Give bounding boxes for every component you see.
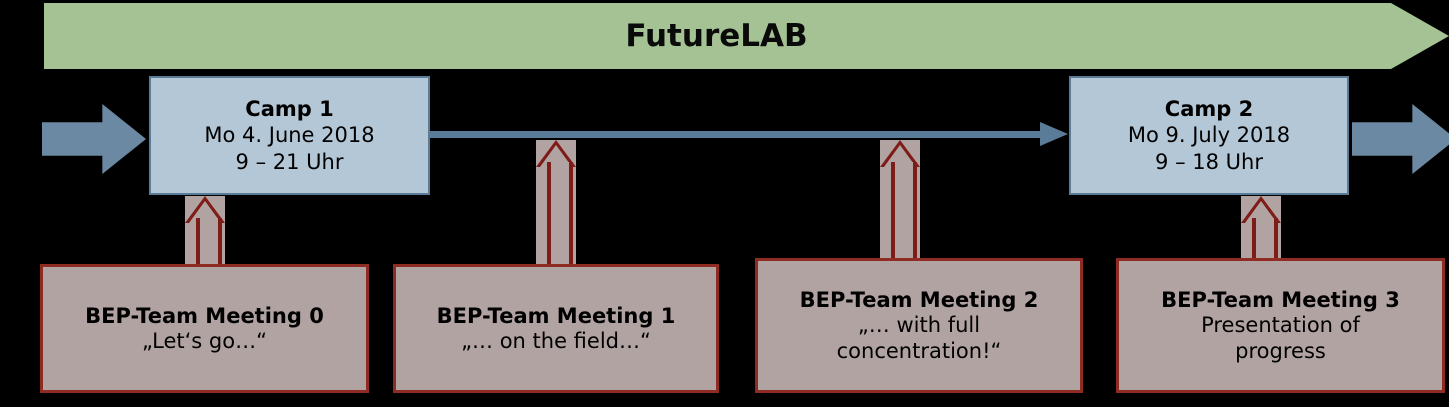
- meeting-1-box[interactable]: BEP-Team Meeting 1 „… on the field…“: [393, 264, 719, 393]
- left-block-arrow-icon: [42, 104, 146, 174]
- meeting-2-title: BEP-Team Meeting 2: [800, 287, 1039, 313]
- camp-2-date: Mo 9. July 2018: [1128, 122, 1290, 149]
- camp-2-time: 9 – 18 Uhr: [1155, 149, 1263, 176]
- up-arrow-meeting-0-icon: [185, 196, 225, 266]
- up-arrow-meeting-3-icon: [1241, 196, 1281, 260]
- meeting-2-subtitle-line1: „… with full: [858, 313, 980, 339]
- camp-connector-line: [430, 131, 1055, 138]
- camp-connector-arrowhead-icon: [1040, 122, 1068, 146]
- meeting-2-box[interactable]: BEP-Team Meeting 2 „… with full concentr…: [755, 258, 1083, 393]
- meeting-1-subtitle-line1: „… on the field…“: [461, 329, 651, 355]
- up-arrow-meeting-2-icon: [880, 140, 920, 260]
- camp-1-box[interactable]: Camp 1 Mo 4. June 2018 9 – 21 Uhr: [149, 76, 430, 195]
- header-banner: FutureLAB: [44, 3, 1449, 69]
- meeting-2-subtitle-line2: concentration!“: [837, 339, 1002, 365]
- meeting-0-subtitle-line1: „Let‘s go…“: [142, 329, 267, 355]
- meeting-3-subtitle-line2: progress: [1235, 339, 1326, 365]
- meeting-1-title: BEP-Team Meeting 1: [437, 303, 676, 329]
- camp-2-title: Camp 2: [1165, 97, 1253, 122]
- camp-1-date: Mo 4. June 2018: [204, 122, 374, 149]
- page-title: FutureLAB: [625, 18, 807, 54]
- timeline-diagram: FutureLAB Camp 1 Mo 4. June 2018 9 – 21 …: [0, 0, 1449, 407]
- up-arrow-meeting-1-icon: [536, 140, 576, 266]
- meeting-0-title: BEP-Team Meeting 0: [85, 303, 324, 329]
- meeting-3-box[interactable]: BEP-Team Meeting 3 Presentation of progr…: [1116, 258, 1445, 393]
- meeting-3-subtitle-line1: Presentation of: [1201, 313, 1360, 339]
- camp-1-title: Camp 1: [245, 97, 333, 122]
- camp-1-time: 9 – 21 Uhr: [236, 149, 344, 176]
- right-block-arrow-icon: [1352, 104, 1449, 174]
- meeting-3-title: BEP-Team Meeting 3: [1161, 287, 1400, 313]
- meeting-0-box[interactable]: BEP-Team Meeting 0 „Let‘s go…“: [40, 264, 369, 393]
- camp-2-box[interactable]: Camp 2 Mo 9. July 2018 9 – 18 Uhr: [1069, 76, 1349, 195]
